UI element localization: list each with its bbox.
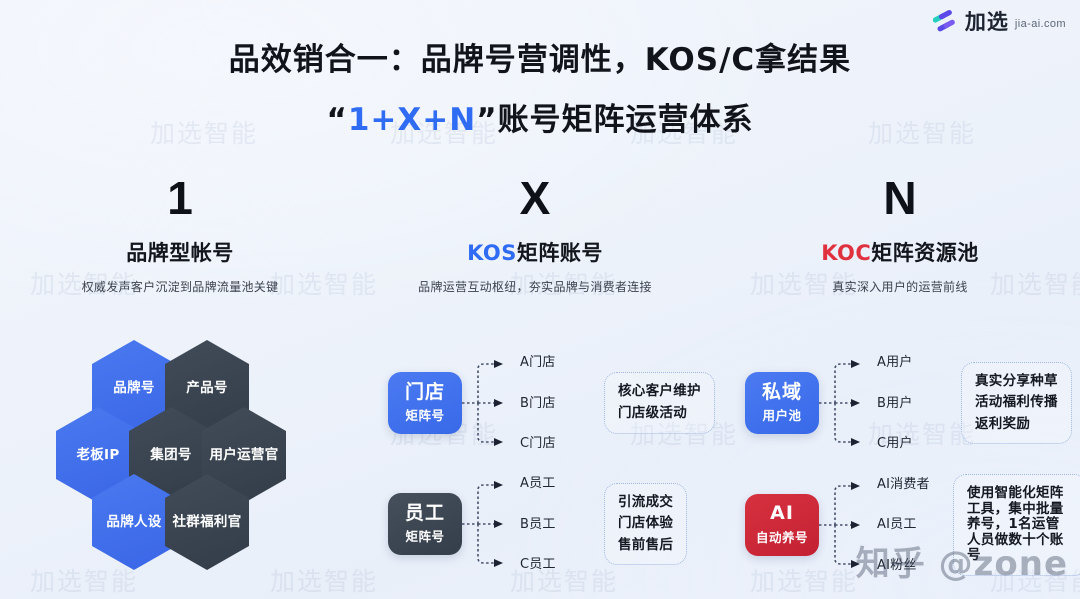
flow-node-staff-main: 员工 [405, 503, 445, 524]
branch-item[interactable]: A门店 [520, 356, 582, 369]
branch-connector-icon [819, 355, 881, 451]
note-box-private-domain: 真实分享种草 活动福利传播 返利奖励 [961, 362, 1072, 445]
jiaxuan-logo-icon [933, 9, 959, 33]
flow-node-private-domain-sub: 用户池 [762, 405, 801, 424]
branch-item[interactable]: AI员工 [877, 518, 939, 531]
branch-item[interactable]: AI消费者 [877, 478, 939, 491]
flow-node-staff[interactable]: 员工 矩阵号 [388, 493, 462, 555]
branch-item[interactable]: A员工 [520, 477, 582, 490]
brand-name: 加选 [965, 6, 1009, 36]
flow-node-private-domain[interactable]: 私域 用户池 [745, 372, 819, 434]
note-box-staff: 引流成交 门店体验 售前售后 [604, 483, 687, 566]
flow-node-staff-sub: 矩阵号 [405, 526, 444, 545]
branch-item[interactable]: C门店 [520, 437, 582, 450]
zhihu-watermark: 知乎 @zone [856, 536, 1068, 585]
note-line: 售前售后 [618, 538, 673, 554]
page-title: 品效销合一：品牌号营调性，KOS/C拿结果 [0, 34, 1080, 79]
note-line: 活动福利传播 [975, 395, 1058, 411]
column-header-2: X KOS矩阵账号 品牌运营互动枢纽，夯实品牌与消费者连接 [370, 175, 700, 295]
slide-canvas: 加选智能 加选智能 加选智能 加选智能 加选智能 加选智能 加选智能 加选智能 … [0, 0, 1080, 599]
brand-domain: jia-ai.com [1015, 18, 1066, 30]
subtitle-quote-open: “ [326, 102, 347, 138]
column-numeral-3: N [735, 175, 1065, 221]
subtitle-quote-close: ” [476, 102, 497, 138]
flow-row-staff: 员工 矩阵号 A员工 B员工 C员工 引流成交 门店体验 售前售后 [388, 476, 687, 572]
note-line: 引流成交 [618, 495, 673, 511]
note-box-store: 核心客户维护 门店级活动 [604, 372, 715, 433]
note-line: 返利奖励 [975, 417, 1058, 433]
column-title-2: KOS矩阵账号 [370, 237, 700, 267]
flow-node-store[interactable]: 门店 矩阵号 [388, 372, 462, 434]
column-header-1: 1 品牌型帐号 权威发声客户沉淀到品牌流量池关键 [20, 175, 340, 295]
flow-node-ai-main: AI [770, 503, 794, 524]
flow-node-ai-sub: 自动养号 [756, 527, 808, 546]
hexagon-cluster: 品牌号 产品号 老板IP 集团号 用户运营官 品牌人设 社群福利官 [32, 340, 332, 570]
branch-connector-icon [462, 355, 524, 451]
column-title-rest-2: 矩阵账号 [517, 241, 603, 265]
column-header-3: N KOC矩阵资源池 真实深入用户的运营前线 [735, 175, 1065, 295]
flow-node-store-sub: 矩阵号 [405, 405, 444, 424]
branch-item[interactable]: C用户 [877, 437, 939, 450]
branch-list-private-domain: A用户 B用户 C用户 [877, 356, 939, 450]
subtitle-highlight: 1+X+N [348, 102, 476, 138]
flow-node-private-domain-main: 私域 [762, 382, 802, 403]
flow-node-ai[interactable]: AI 自动养号 [745, 494, 819, 556]
branch-item[interactable]: A用户 [877, 356, 939, 369]
brand-logo[interactable]: 加选 jia-ai.com [933, 6, 1066, 36]
column-title-accent-3: KOC [821, 241, 871, 265]
page-subtitle: “1+X+N”账号矩阵运营体系 [0, 94, 1080, 139]
branch-connector-icon [462, 476, 524, 572]
note-line: 真实分享种草 [975, 374, 1058, 390]
column-subtitle-1: 权威发声客户沉淀到品牌流量池关键 [20, 278, 340, 295]
branch-item[interactable]: B员工 [520, 518, 582, 531]
subtitle-rest: 账号矩阵运营体系 [498, 102, 754, 138]
branch-list-store: A门店 B门店 C门店 [520, 356, 582, 450]
note-line: 门店体验 [618, 516, 673, 532]
column-numeral-2: X [370, 175, 700, 221]
column-title-3: KOC矩阵资源池 [735, 237, 1065, 267]
flow-row-private-domain: 私域 用户池 A用户 B用户 C用户 真实分享种草 活动福利传播 返利奖励 [745, 355, 1072, 451]
column-numeral-1: 1 [20, 175, 340, 221]
column-subtitle-3: 真实深入用户的运营前线 [735, 278, 1065, 295]
note-line: 核心客户维护 [618, 384, 701, 400]
branch-item[interactable]: B门店 [520, 397, 582, 410]
note-line: 门店级活动 [618, 406, 701, 422]
column-title-rest-1: 品牌型帐号 [126, 241, 234, 265]
flow-row-store: 门店 矩阵号 A门店 B门店 C门店 核心客户维护 门店级活动 [388, 355, 715, 451]
column-title-1: 品牌型帐号 [20, 237, 340, 267]
flow-node-store-main: 门店 [405, 382, 445, 403]
branch-list-staff: A员工 B员工 C员工 [520, 477, 582, 571]
column-title-accent-2: KOS [467, 241, 517, 265]
branch-item[interactable]: C员工 [520, 558, 582, 571]
column-title-rest-3: 矩阵资源池 [871, 241, 979, 265]
column-subtitle-2: 品牌运营互动枢纽，夯实品牌与消费者连接 [370, 278, 700, 295]
branch-item[interactable]: B用户 [877, 397, 939, 410]
